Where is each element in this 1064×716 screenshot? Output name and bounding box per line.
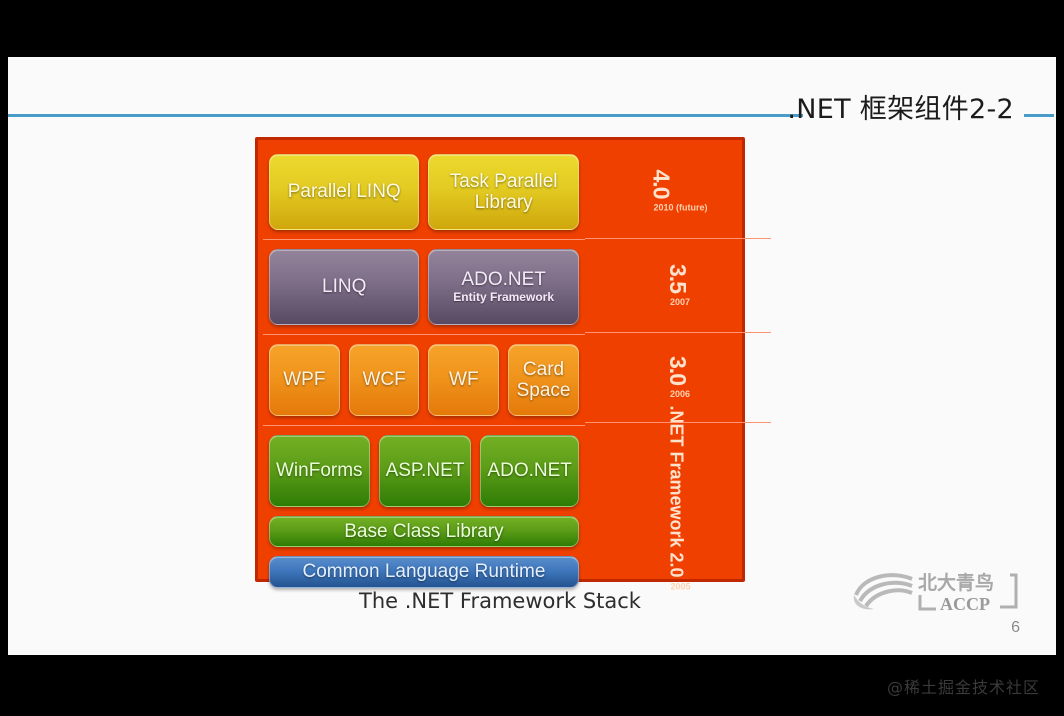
component-winforms[interactable]: WinForms	[269, 435, 370, 507]
component-linq[interactable]: LINQ	[269, 249, 419, 325]
component-label: WinForms	[276, 460, 363, 481]
component-ado-net-ef[interactable]: ADO.NET Entity Framework	[428, 249, 578, 325]
svg-text:ACCP: ACCP	[940, 594, 990, 614]
version-number: 3.0	[664, 356, 691, 385]
component-label: WF	[449, 369, 479, 390]
component-label: ADO.NET	[487, 460, 571, 481]
component-label: WPF	[283, 369, 325, 390]
page-number: 6	[1011, 619, 1020, 637]
version-year: 2007	[670, 297, 690, 307]
stack-band-2-0: WinForms ASP.NET ADO.NET Base Class Libr…	[263, 426, 585, 597]
component-label: LINQ	[322, 276, 366, 297]
stack-band-4-0: Parallel LINQ Task Parallel Library	[263, 145, 585, 240]
header-rule-right	[1024, 114, 1054, 117]
svg-text:北大青鸟: 北大青鸟	[918, 571, 994, 594]
component-asp-net[interactable]: ASP.NET	[379, 435, 472, 507]
component-label: Task Parallel Library	[435, 171, 571, 214]
screen: .NET 框架组件2-2 Parallel LINQ Task Parallel…	[0, 0, 1064, 716]
component-sublabel: Entity Framework	[453, 291, 554, 304]
component-label: WCF	[362, 369, 405, 390]
accp-logo: 北大青鸟 ACCP	[850, 565, 1026, 617]
component-label: ADO.NET	[461, 269, 545, 290]
component-label: Card Space	[515, 359, 572, 402]
component-wcf[interactable]: WCF	[349, 344, 420, 416]
diagram-caption: The .NET Framework Stack	[255, 589, 745, 613]
version-number: 4.0	[648, 170, 675, 199]
component-ado-net[interactable]: ADO.NET	[480, 435, 578, 507]
dotnet-framework-stack-diagram: Parallel LINQ Task Parallel Library LINQ…	[255, 137, 745, 582]
component-wf[interactable]: WF	[428, 344, 499, 416]
watermark: @稀土掘金技术社区	[887, 674, 1040, 698]
version-year: 2010 (future)	[654, 203, 708, 213]
accp-logo-mark: 北大青鸟 ACCP	[850, 565, 1026, 617]
stack-band-3-5: LINQ ADO.NET Entity Framework	[263, 240, 585, 335]
page-title: .NET 框架组件2-2	[787, 87, 1014, 126]
component-task-parallel-library[interactable]: Task Parallel Library	[428, 154, 578, 230]
component-common-language-runtime[interactable]: Common Language Runtime	[269, 556, 579, 587]
version-cell-3-5: 3.5 2007	[585, 239, 771, 333]
component-base-class-library[interactable]: Base Class Library	[269, 516, 579, 547]
version-year: 2006	[670, 389, 690, 399]
component-wpf[interactable]: WPF	[269, 344, 340, 416]
version-number: .NET Framework 2.0	[665, 405, 686, 577]
slide-header: .NET 框架组件2-2	[8, 87, 1056, 133]
stack-band-2-0-row-top: WinForms ASP.NET ADO.NET	[269, 435, 579, 507]
component-label: Common Language Runtime	[302, 561, 545, 582]
stack-bands: Parallel LINQ Task Parallel Library LINQ…	[263, 145, 585, 574]
slide-canvas: .NET 框架组件2-2 Parallel LINQ Task Parallel…	[8, 57, 1056, 655]
component-parallel-linq[interactable]: Parallel LINQ	[269, 154, 419, 230]
version-cell-2-0: .NET Framework 2.0 2005	[585, 423, 771, 574]
stack-band-3-0: WPF WCF WF Card Space	[263, 335, 585, 426]
component-label: Parallel LINQ	[288, 181, 401, 202]
header-rule-left	[8, 114, 803, 117]
component-label: Base Class Library	[344, 521, 503, 542]
component-card-space[interactable]: Card Space	[508, 344, 579, 416]
version-cell-4-0: 4.0 2010 (future)	[585, 145, 771, 239]
version-number: 3.5	[664, 264, 691, 293]
version-rail: 4.0 2010 (future) 3.5 2007 3.0 2006	[585, 145, 771, 574]
component-label: ASP.NET	[386, 460, 465, 481]
